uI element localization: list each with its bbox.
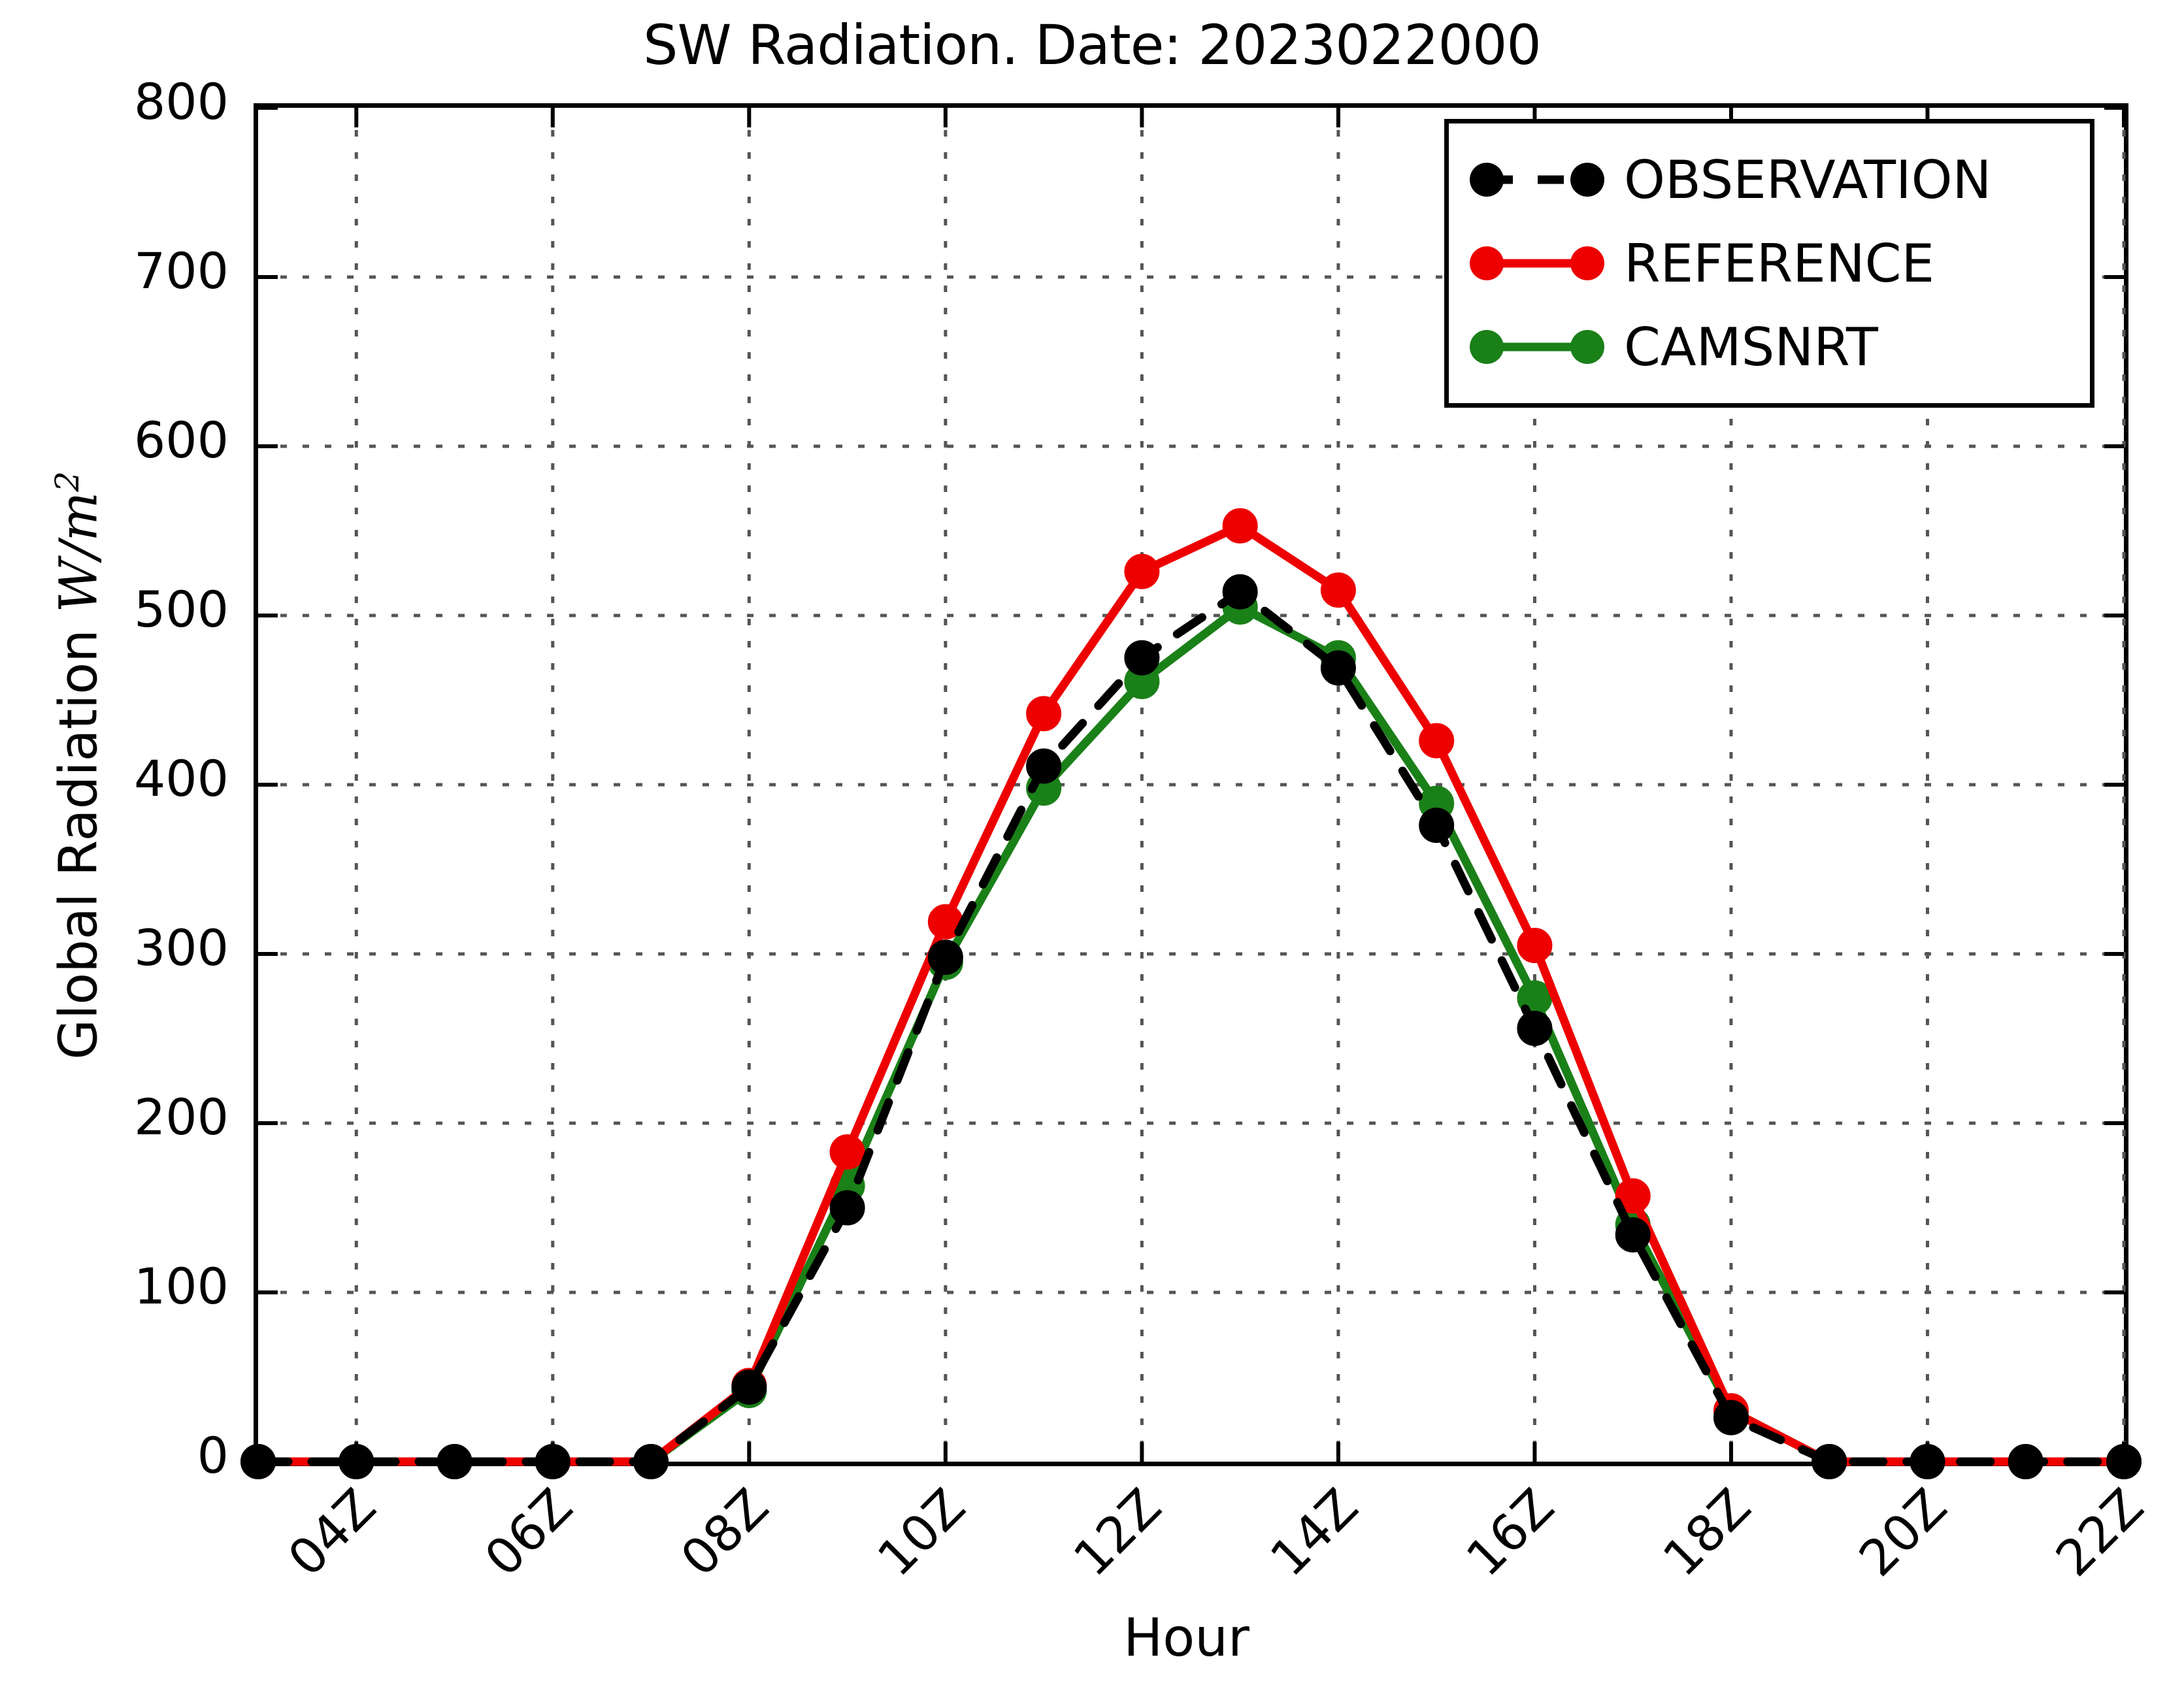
x-tick-label: 22Z — [2043, 1481, 2152, 1590]
data-point — [1517, 928, 1551, 962]
data-point — [1223, 509, 1257, 543]
data-point — [634, 1445, 668, 1479]
data-point — [1517, 1011, 1551, 1045]
data-point — [438, 1445, 472, 1479]
x-tick-label: 20Z — [1846, 1481, 1955, 1590]
y-tick-label: 800 — [33, 77, 229, 127]
data-point — [732, 1370, 766, 1404]
data-point — [1027, 697, 1061, 730]
data-point — [241, 1445, 275, 1479]
y-tick-label: 300 — [33, 923, 229, 973]
x-axis-tick-labels: 04Z06Z08Z10Z12Z14Z16Z18Z20Z22Z — [254, 1467, 2119, 1663]
legend-item-label: REFERENCE — [1624, 233, 1934, 294]
data-point — [1321, 573, 1355, 607]
x-tick-label: 16Z — [1453, 1481, 1563, 1590]
legend-line-sample-icon — [1468, 147, 1606, 212]
chart-legend: OBSERVATIONREFERENCECAMSNRT — [1444, 119, 2094, 408]
legend-item-label: OBSERVATION — [1624, 150, 1991, 210]
series-observation — [241, 575, 2141, 1479]
x-tick-label: 18Z — [1650, 1481, 1759, 1590]
series-camsnrt — [241, 590, 2141, 1479]
data-point — [2009, 1445, 2043, 1479]
y-tick-label: 600 — [33, 416, 229, 465]
data-point — [339, 1445, 373, 1479]
data-point — [1419, 808, 1453, 842]
data-point — [1125, 555, 1159, 589]
data-point — [831, 1135, 865, 1169]
data-point — [1714, 1401, 1748, 1435]
data-point — [536, 1445, 570, 1479]
data-point — [831, 1191, 865, 1225]
y-tick-label: 700 — [33, 246, 229, 296]
x-tick-label: 04Z — [275, 1481, 384, 1590]
chart-figure: SW Radiation. Date: 2023022000 Global Ra… — [0, 0, 2184, 1689]
data-point — [1910, 1445, 1944, 1479]
legend-item-label: CAMSNRT — [1624, 317, 1878, 378]
y-tick-label: 100 — [33, 1262, 229, 1311]
series-line-camsnrt — [258, 607, 2124, 1462]
series-line-observation — [258, 592, 2124, 1462]
x-tick-label: 14Z — [1257, 1481, 1366, 1590]
legend-item[interactable]: OBSERVATION — [1449, 138, 2090, 221]
y-tick-label: 200 — [33, 1092, 229, 1142]
series-line-reference — [258, 526, 2124, 1462]
x-tick-label: 10Z — [864, 1481, 973, 1590]
data-point — [1027, 749, 1061, 783]
data-point — [1812, 1445, 1846, 1479]
data-point — [1419, 724, 1453, 758]
legend-line-sample-icon — [1468, 314, 1606, 380]
legend-line-sample-icon — [1468, 231, 1606, 296]
y-tick-label: 500 — [33, 585, 229, 634]
data-point — [1125, 641, 1159, 675]
y-axis-tick-labels: 0100200300400500600700800 — [26, 103, 229, 1457]
legend-item[interactable]: REFERENCE — [1449, 221, 2090, 305]
x-tick-label: 08Z — [668, 1481, 777, 1590]
data-point — [1223, 575, 1257, 609]
data-point — [2107, 1445, 2141, 1479]
page-title: SW Radiation. Date: 2023022000 — [0, 13, 2184, 77]
x-tick-label: 12Z — [1061, 1481, 1170, 1590]
y-tick-label: 0 — [33, 1431, 229, 1481]
data-point — [929, 940, 963, 974]
y-tick-label: 400 — [33, 754, 229, 804]
data-point — [1616, 1218, 1650, 1252]
x-tick-label: 06Z — [471, 1481, 580, 1590]
data-point — [1321, 651, 1355, 685]
legend-item[interactable]: CAMSNRT — [1449, 305, 2090, 389]
series-reference — [241, 509, 2141, 1479]
